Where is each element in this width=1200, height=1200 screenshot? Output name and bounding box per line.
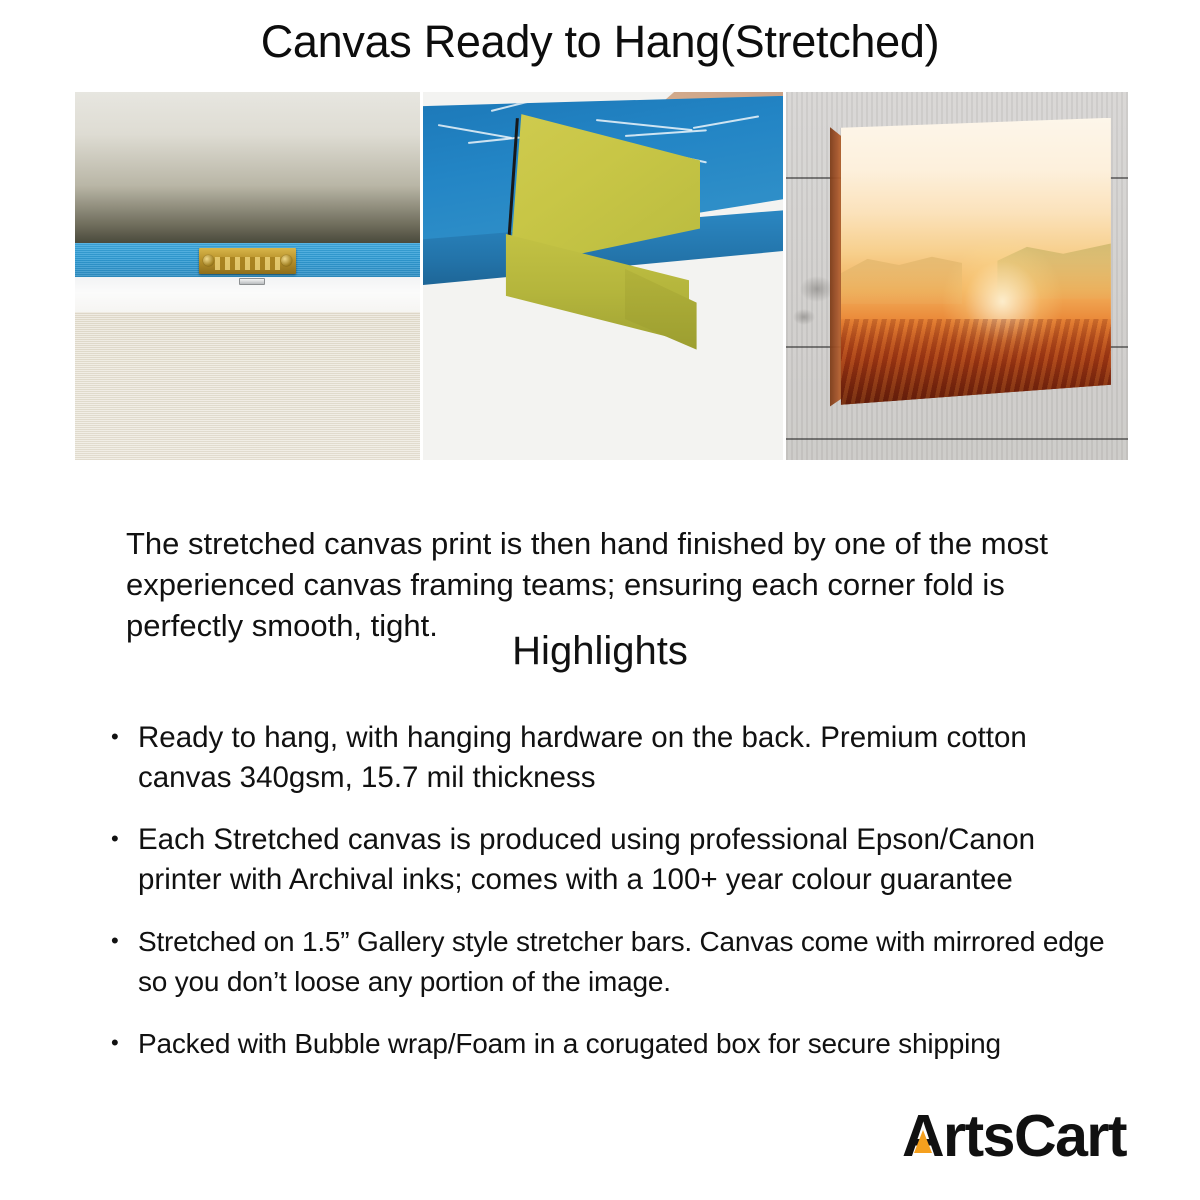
wood-knot [800,276,834,302]
wall-gradient [75,92,420,243]
canvas-back-hanger-photo [75,92,420,460]
wave-line [693,116,760,130]
page-title: Canvas Ready to Hang(Stretched) [0,16,1200,68]
wave-line [595,119,692,131]
plank-seam [786,438,1128,440]
wall-nail [239,278,265,285]
canvas-on-wall-photo [786,92,1128,460]
hanger-screw-left [203,255,214,266]
list-item: Ready to hang, with hanging hardware on … [108,718,1118,798]
sawtooth-hanger-icon [199,248,296,274]
orange-triangle [914,1130,932,1153]
wave-line [438,124,512,139]
list-item: Packed with Bubble wrap/Foam in a coruga… [108,1024,1118,1064]
triangle-mark-icon [902,1115,946,1159]
list-item: Stretched on 1.5” Gallery style stretche… [108,922,1118,1002]
product-info-page: Canvas Ready to Hang(Stretched) [0,0,1200,1200]
corner-fold-photo [423,92,783,460]
highlights-list: Ready to hang, with hanging hardware on … [108,718,1118,1086]
wave-line [625,129,707,137]
hanger-screw-right [281,255,292,266]
artscart-logo: ArtsCart [902,1107,1126,1166]
list-item: Each Stretched canvas is produced using … [108,820,1118,900]
sunset-landscape-print [841,118,1111,405]
wave-line [468,136,520,143]
photo-strip [75,92,1128,460]
hanger-teeth [215,257,281,270]
wood-knot [793,309,815,325]
canvas-cotton-face [75,312,420,460]
canvas-wrapped-side [830,127,842,407]
highlights-heading: Highlights [0,629,1200,674]
intro-paragraph: The stretched canvas print is then hand … [126,523,1086,646]
